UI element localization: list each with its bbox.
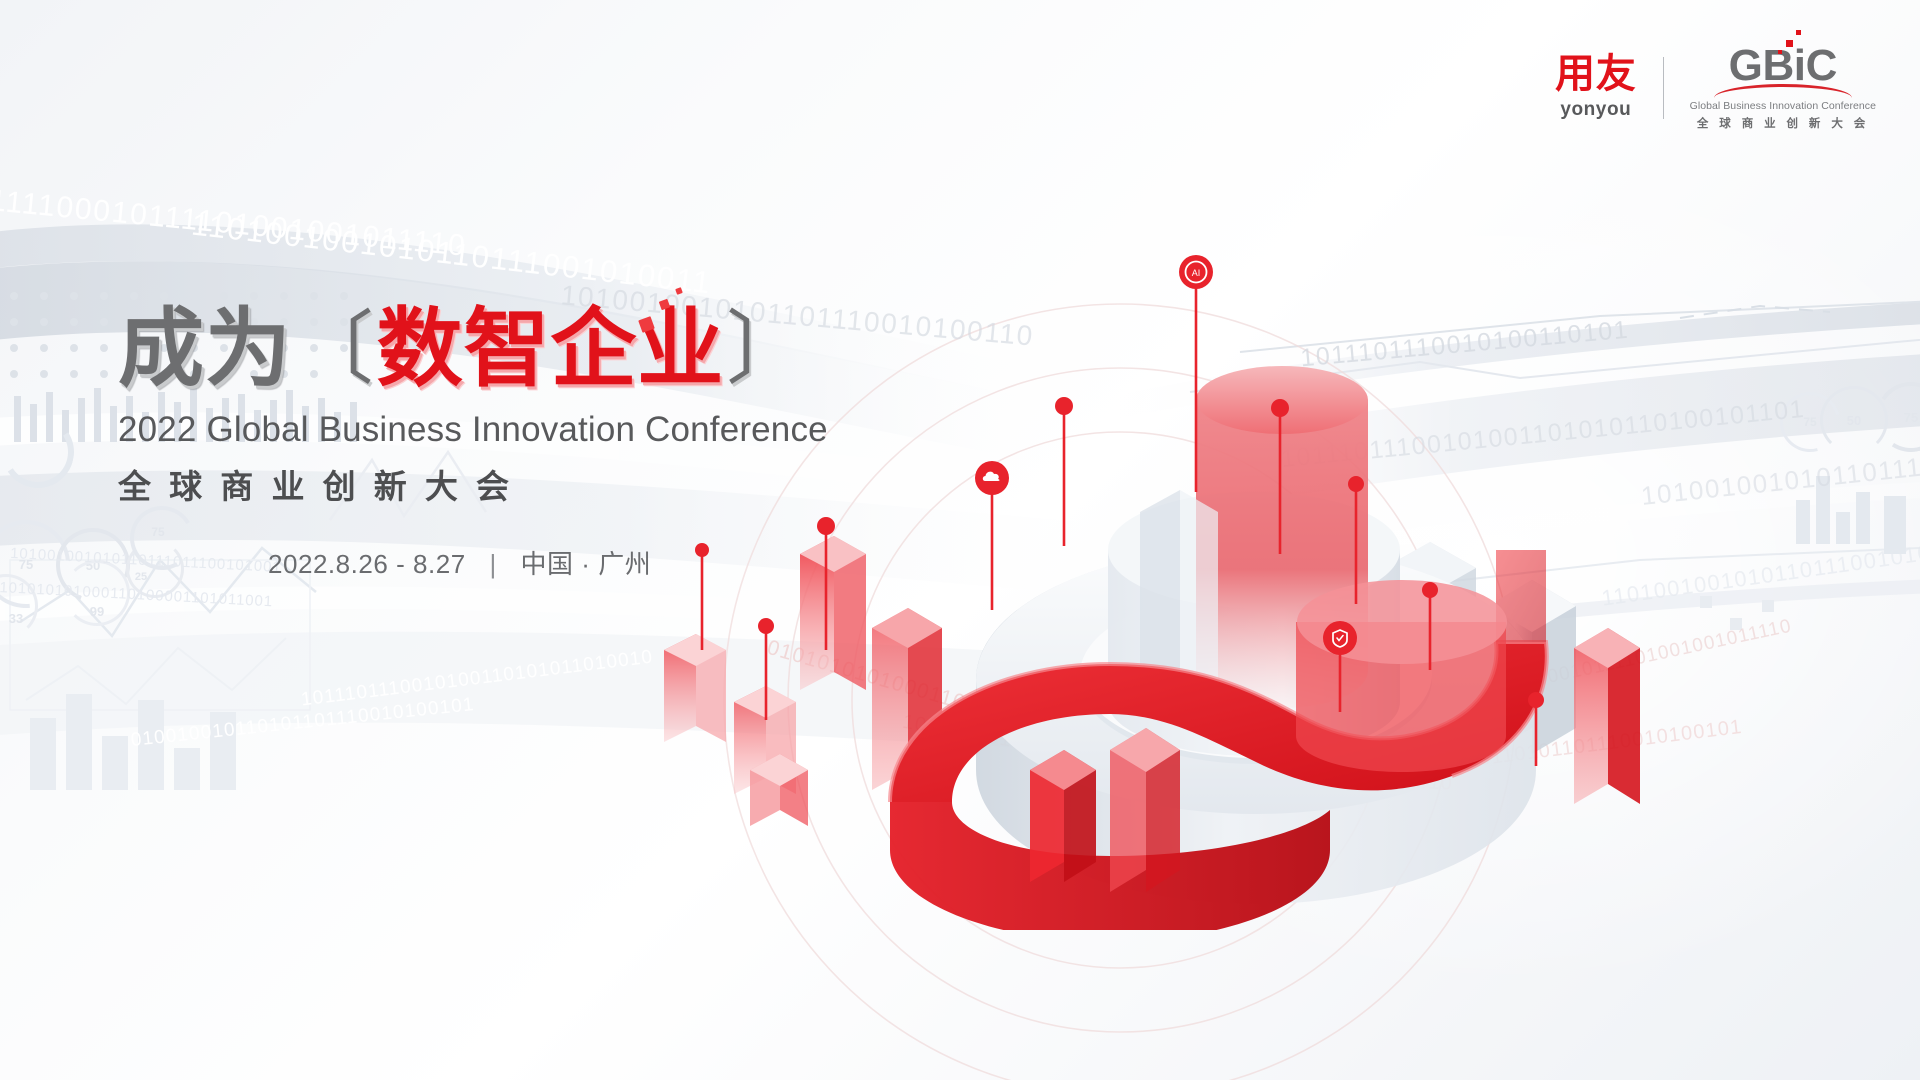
bracket-close: 〕 — [726, 309, 807, 389]
subtitle-chinese: 全球商业创新大会 — [118, 460, 878, 508]
gbic-subtitle-en: Global Business Innovation Conference — [1690, 100, 1876, 112]
subtitle-english: 2022 Global Business Innovation Conferen… — [118, 410, 878, 450]
gauge-ring-75-right: 75 — [1769, 381, 1851, 463]
gbic-subtitle-cn: 全 球 商 业 创 新 大 会 — [1697, 115, 1869, 131]
binary-strip-1: 0111100010111101001001011110 — [0, 182, 468, 264]
gauge-ring-arc-topleft — [0, 409, 81, 494]
binary-strip-2: 1101001001010110111001010011 — [190, 206, 714, 301]
binary-strip-5: 0101010101000110100001101011001 — [0, 579, 273, 611]
yonyou-logo-en: yonyou — [1560, 99, 1631, 121]
gbic-logo[interactable]: GBiC Global Business Innovation Conferen… — [1690, 44, 1876, 131]
svg-text:AI: AI — [1192, 268, 1201, 278]
yonyou-logo[interactable]: 用友 yonyou — [1555, 54, 1637, 121]
bracket-open: 〔 — [294, 309, 375, 389]
logo-lockup[interactable]: 用友 yonyou GBiC Global Business Innovatio… — [1555, 44, 1876, 131]
gbic-dot-1 — [1786, 40, 1793, 47]
page-title: 成为 〔 数智企业 〕 — [118, 306, 878, 392]
gbic-dot-3 — [1778, 50, 1782, 54]
yonyou-logo-cn: 用友 — [1555, 54, 1637, 94]
meta-separator: | — [489, 549, 496, 579]
conference-banner: 75 50 99 25 75 33 75 50 75 0111100010111… — [0, 0, 1920, 1080]
gauge-ring-50-right: 50 — [1820, 386, 1888, 454]
event-location: 中国 · 广州 — [520, 549, 651, 579]
banner-text-block: 成为 〔 数智企业 〕 2022 Global Business Innovat… — [118, 306, 878, 581]
event-meta: 2022.8.26 - 8.27 | 中国 · 广州 — [268, 544, 878, 581]
gauge-ring-75-left: 75 — [0, 502, 88, 626]
gbic-wordmark: GBiC — [1729, 44, 1837, 88]
gbic-dot-2 — [1796, 30, 1801, 35]
ai-pin-icon: AI — [1179, 255, 1213, 290]
gauge-ring-75b-right: 75 — [1869, 375, 1920, 458]
cloud-pin-icon — [975, 461, 1009, 496]
bar-right-red — [1574, 628, 1640, 804]
binary-strip-6: 1011101110010100110101011010010 — [300, 646, 654, 711]
headline-prefix: 成为 — [118, 306, 292, 392]
event-date: 2022.8.26 - 8.27 — [268, 549, 466, 579]
right-red-cylinder — [1296, 580, 1507, 772]
headline-highlight: 数智企业 — [377, 306, 724, 392]
binary-strip-7: 010010010110101101110010100101 — [130, 694, 476, 752]
logo-divider — [1663, 57, 1664, 119]
gauge-ring-33-left: 33 — [0, 574, 38, 638]
